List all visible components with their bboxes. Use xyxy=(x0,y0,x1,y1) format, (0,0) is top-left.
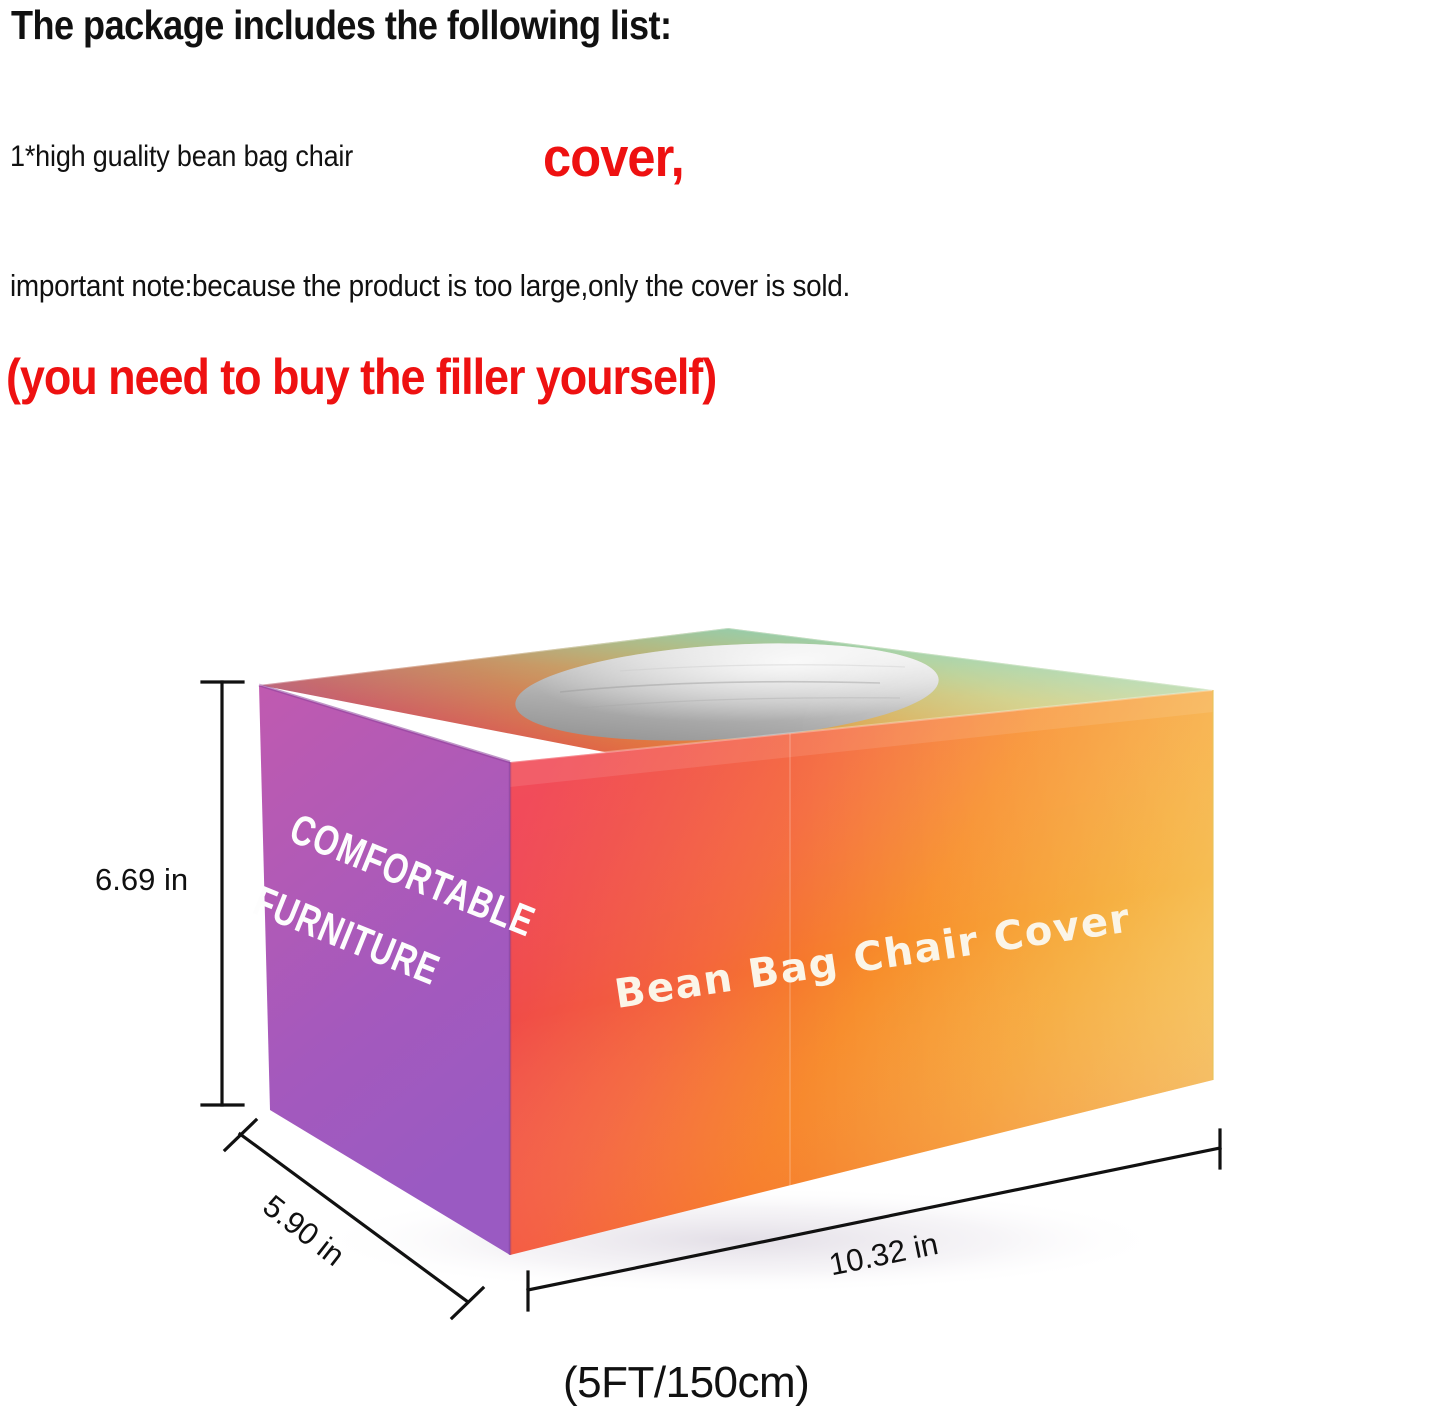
dimension-line-height xyxy=(202,682,243,1105)
package-item-text: 1*high guality bean bag chair xyxy=(10,140,353,174)
package-item-emphasis: cover, xyxy=(543,125,684,189)
size-caption: (5FT/150cm) xyxy=(563,1358,809,1408)
product-box-illustration: COMFORTABLE FURNITURE Bean Bag Chair Cov… xyxy=(0,540,1445,1340)
filler-warning-text: (you need to buy the filler yourself) xyxy=(6,348,716,406)
important-note-text: important note:because the product is to… xyxy=(10,268,850,304)
dimension-label-height: 6.69 in xyxy=(95,862,188,898)
page-title: The package includes the following list: xyxy=(11,2,671,49)
